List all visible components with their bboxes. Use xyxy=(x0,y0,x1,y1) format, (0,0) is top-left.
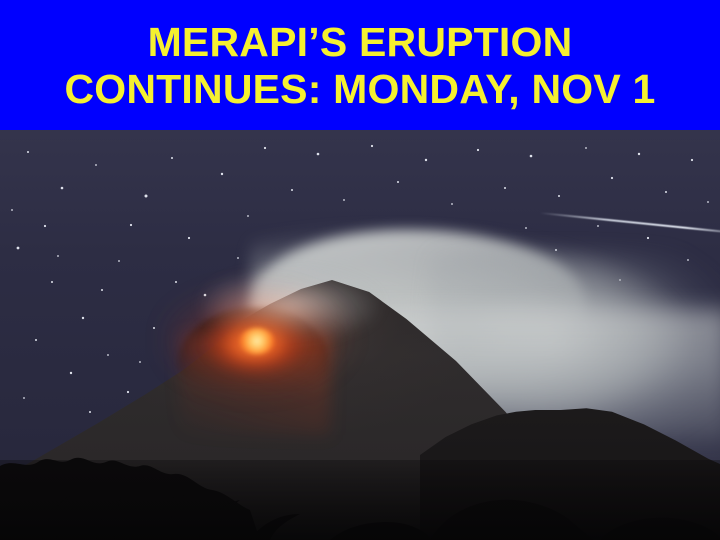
foreground-shadow xyxy=(0,460,720,540)
lava-uplight-on-plume xyxy=(215,255,385,335)
title-line-2: CONTINUES: MONDAY, NOV 1 xyxy=(64,66,655,113)
title-line-1: MERAPI’S ERUPTION xyxy=(148,19,573,66)
slide: MERAPI’S ERUPTION CONTINUES: MONDAY, NOV… xyxy=(0,0,720,540)
volcano-photograph xyxy=(0,130,720,540)
title-banner: MERAPI’S ERUPTION CONTINUES: MONDAY, NOV… xyxy=(0,0,720,130)
